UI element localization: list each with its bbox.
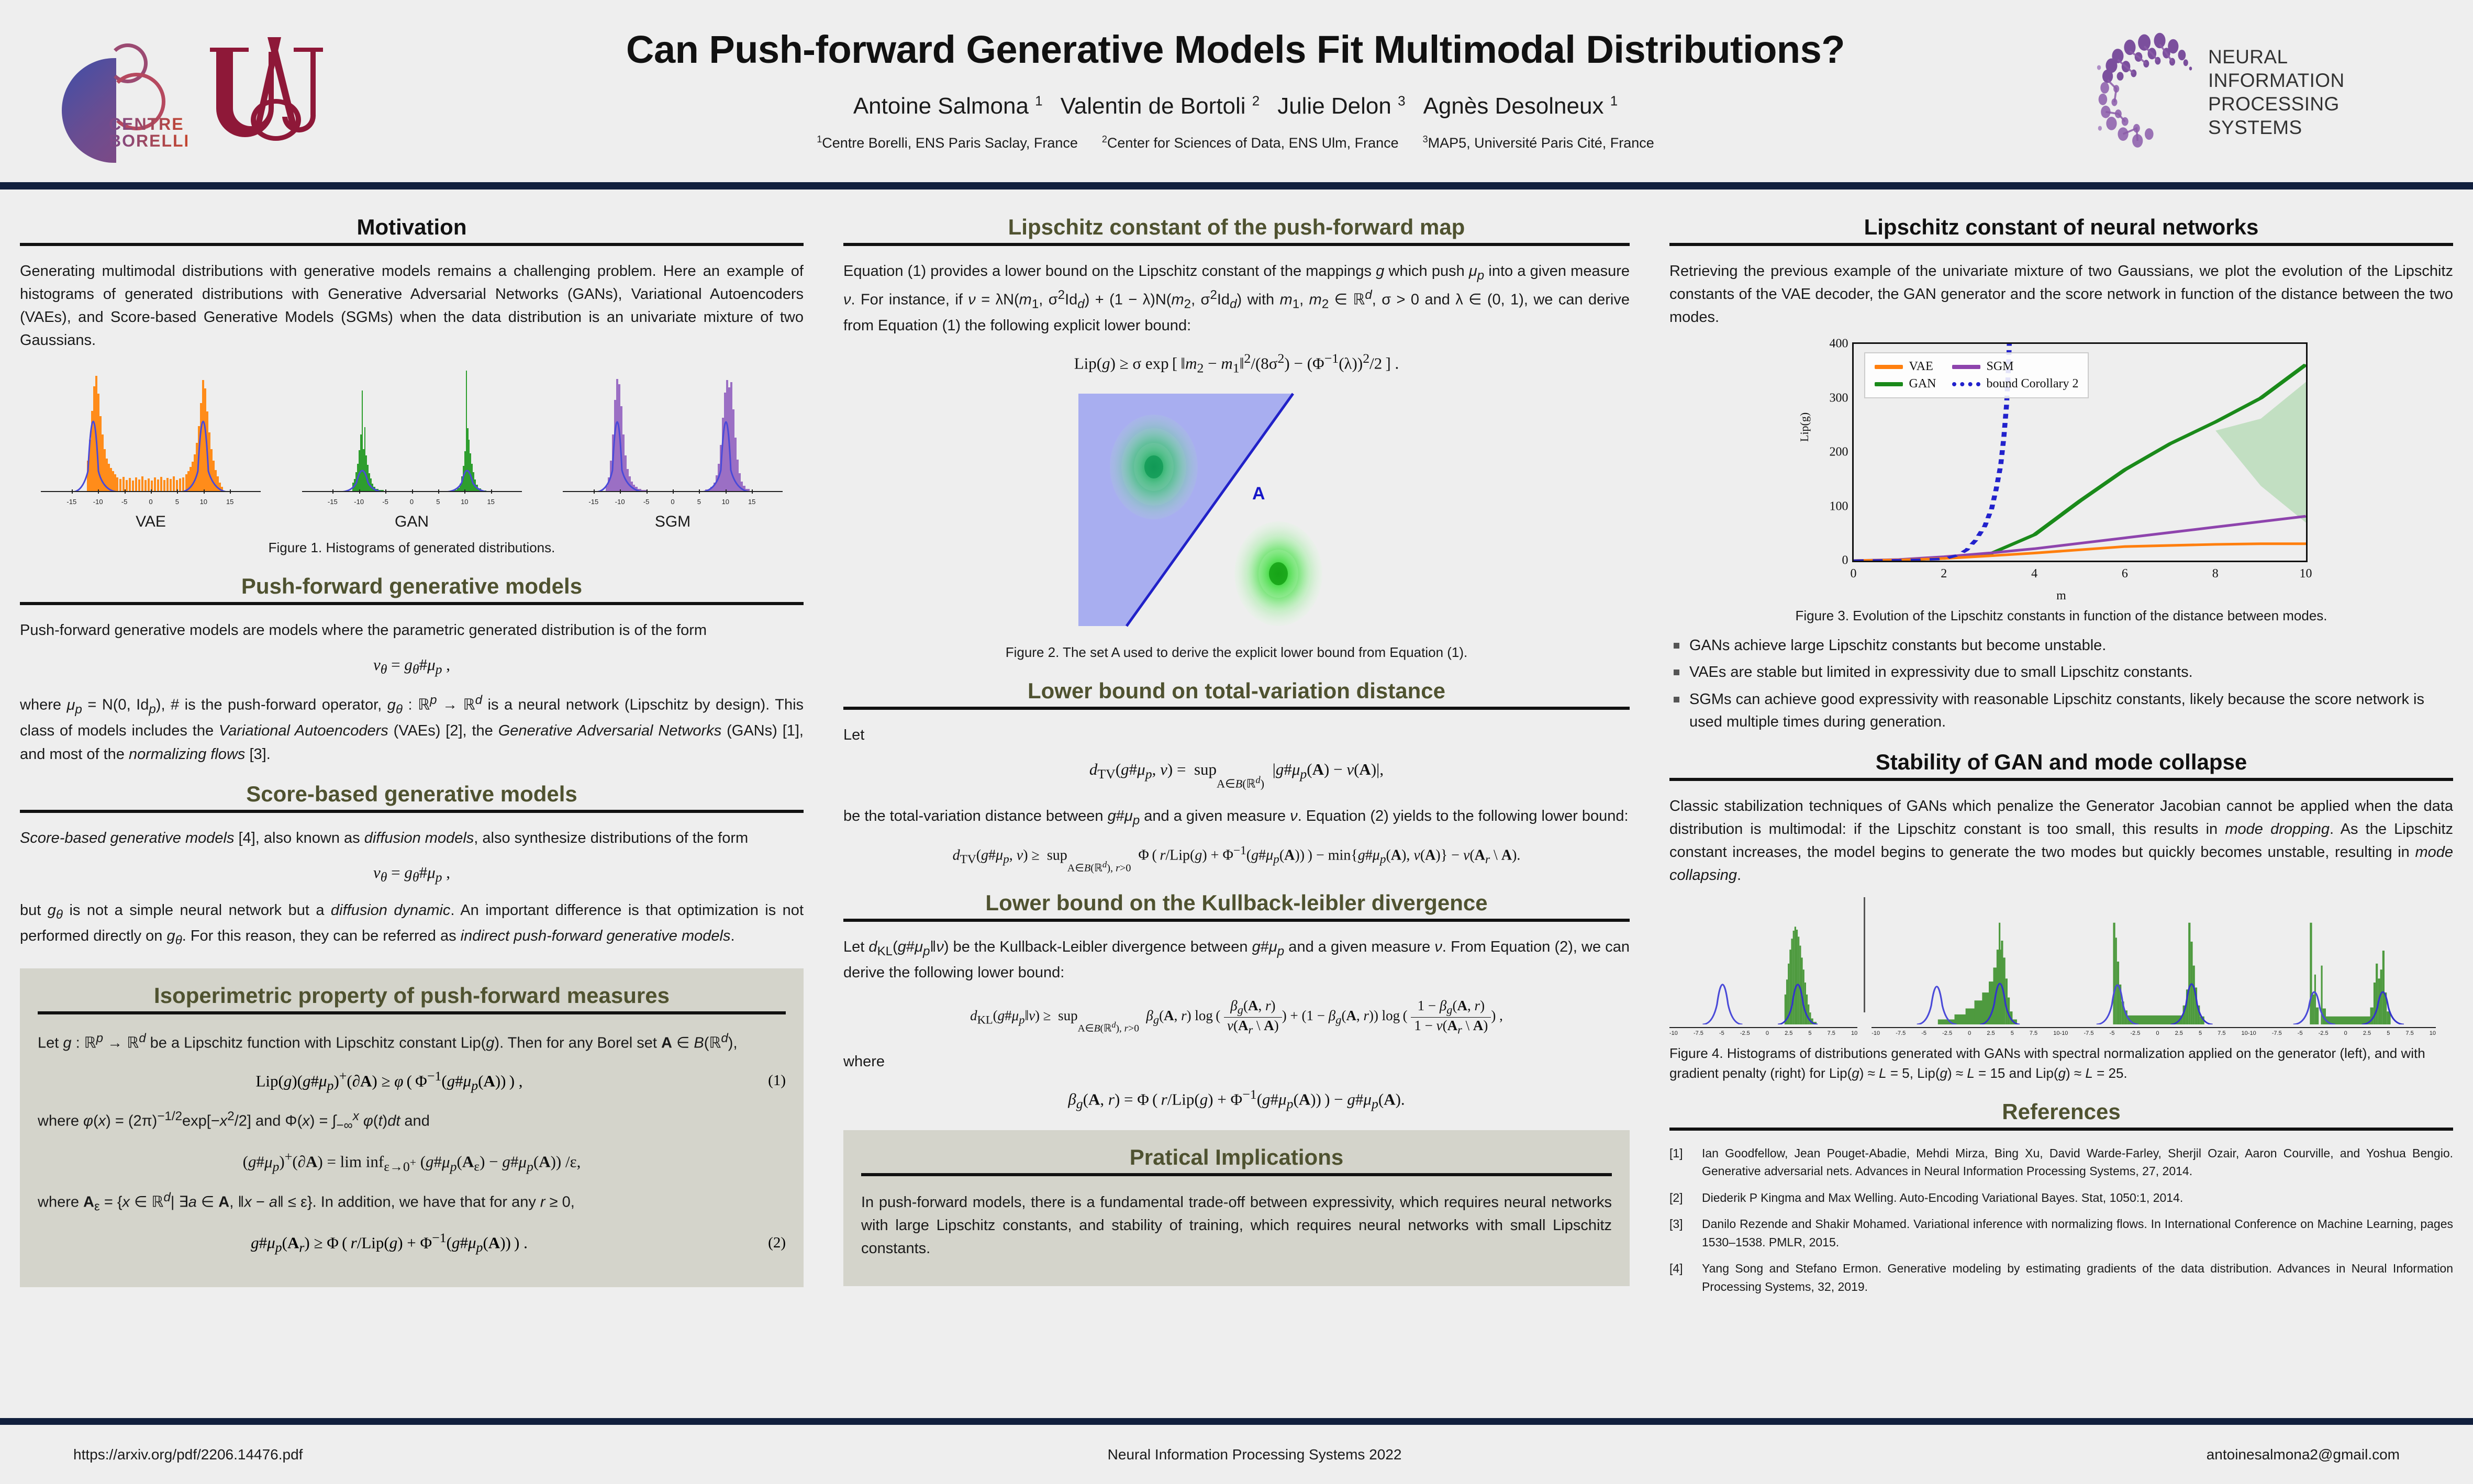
xtick: 5 xyxy=(2011,1030,2014,1036)
figure-3: Lip(g) m 0 100 200 300 400 0 2 4 6 8 10 xyxy=(1669,337,2453,599)
gan-histogram-icon xyxy=(302,361,522,492)
xtick: -10 xyxy=(1669,1030,1678,1036)
affiliation-list: 1Centre Borelli, ENS Paris Saclay, Franc… xyxy=(513,134,1958,151)
scorebased-paragraph-2: but gθ is not a simple neural network bu… xyxy=(20,899,804,951)
section-divider xyxy=(20,602,804,605)
figure-1-label-gan: GAN xyxy=(302,513,522,531)
section-divider xyxy=(20,810,804,813)
legend-swatch-bound xyxy=(1952,382,1980,386)
xtick: 10 xyxy=(2430,1030,2436,1036)
xtick: 10 xyxy=(2053,1030,2059,1036)
section-heading-scorebased: Score-based generative models xyxy=(20,782,804,807)
legend-item-sgm: SGM xyxy=(1952,360,2079,374)
figure-1-panel-gan: -15 -10 -5 0 5 10 15 GAN xyxy=(302,361,522,531)
neurips-mark-icon xyxy=(2096,27,2200,158)
section-divider xyxy=(843,707,1630,710)
xtick: 2.5 xyxy=(1987,1030,1995,1036)
list-item: GANs achieve large Lipschitz constants b… xyxy=(1669,634,2453,657)
xtick: -7.5 xyxy=(1896,1030,1906,1036)
pushforward-paragraph-1: Push-forward generative models are model… xyxy=(20,619,804,642)
borelli-disc-icon xyxy=(62,58,116,163)
legend-item-bound: bound Corollary 2 xyxy=(1952,377,2079,391)
figure-4-xlabels-3: -10 -7.5 -5 -2.5 0 2.5 5 7.5 10 xyxy=(2060,1030,2248,1036)
figure-3-ytick-100: 100 xyxy=(1830,499,1848,514)
legend-label-bound: bound Corollary 2 xyxy=(1987,377,2079,391)
legend-item-gan: GAN xyxy=(1875,377,1936,391)
figure-4-pane-4: -10 -7.5 -5 -2.5 0 2.5 5 7.5 10 xyxy=(2248,920,2436,1036)
poster-root: CENTRE BORELLI xyxy=(0,0,2473,1484)
xtick: -10 xyxy=(1872,1030,1880,1036)
upc-mark-icon xyxy=(200,28,326,153)
section-heading-lipschitz-nn: Lipschitz constant of neural networks xyxy=(1669,215,2453,240)
reference-marker: [2] xyxy=(1669,1189,1683,1207)
xtick: -10 xyxy=(2248,1030,2256,1036)
xtick: -2.5 xyxy=(1740,1030,1750,1036)
figure-3-ytick-200: 200 xyxy=(1830,445,1848,460)
practical-paragraph: In push-forward models, there is a funda… xyxy=(861,1191,1612,1260)
legend-item-vae: VAE xyxy=(1875,360,1936,374)
xtick: 5 xyxy=(2387,1030,2390,1036)
kullback-paragraph-1: Let dKL(g#μp‖ν) be the Kullback-Leibler … xyxy=(843,935,1630,985)
figure-1-panel-vae: -15 -10 -5 0 5 10 15 VAE xyxy=(41,361,261,531)
neurips-line-1: NEURAL INFORMATION xyxy=(2208,45,2421,92)
figure-1-label-sgm: SGM xyxy=(563,513,783,531)
xtick: -5 xyxy=(2298,1030,2303,1036)
figure-3-xtick-8: 8 xyxy=(2212,567,2219,581)
section-heading-motivation: Motivation xyxy=(20,215,804,240)
figure-4-axis-2 xyxy=(1872,1027,2059,1028)
stability-paragraph: Classic stabilization techniques of GANs… xyxy=(1669,795,2453,887)
xtick: 2.5 xyxy=(2175,1030,2183,1036)
figure-1-caption: Figure 1. Histograms of generated distri… xyxy=(20,538,804,558)
figure-4-xlabels-1: -10 -7.5 -5 -2.5 0 2.5 5 7.5 10 xyxy=(1669,1030,1857,1036)
xtick: -7.5 xyxy=(1694,1030,1703,1036)
figure-3-xtick-10: 10 xyxy=(2300,567,2312,581)
xtick: 7.5 xyxy=(1828,1030,1835,1036)
practical-implications-box: Pratical Implications In push-forward mo… xyxy=(843,1130,1630,1286)
figure-2-caption: Figure 2. The set A used to derive the e… xyxy=(843,643,1630,663)
xtick: -5 xyxy=(1719,1030,1724,1036)
footer-venue: Neural Information Processing Systems 20… xyxy=(1108,1446,1402,1463)
xtick: 0 xyxy=(1968,1030,1971,1036)
figure-2: A xyxy=(843,389,1630,635)
xtick: 5 xyxy=(2199,1030,2202,1036)
footer-email[interactable]: antoinesalmona2@gmail.com xyxy=(2207,1446,2400,1463)
set-a-diagram-icon xyxy=(1074,389,1399,635)
isoperimetric-paragraph-1: Let g : ℝp → ℝd be a Lipschitz function … xyxy=(38,1029,786,1055)
isoperimetric-equation-3-number: (2) xyxy=(741,1234,786,1252)
author-2: Valentin de Bortoli 2 xyxy=(1061,93,1260,119)
figure-4-hist-1-icon xyxy=(1669,920,1857,1024)
isoperimetric-paragraph-3: where Aε = {x ∈ ℝd| ∃a ∈ A, ‖x − a‖ ≤ ε}… xyxy=(38,1188,786,1217)
reference-text: Yang Song and Stefano Ermon. Generative … xyxy=(1702,1262,2453,1293)
figure-4-hist-3-icon xyxy=(2060,920,2248,1024)
total-variation-equation-1: dTV(g#μp, ν) = supA∈B(ℝd) |g#μp(A) − ν(A… xyxy=(843,760,1630,791)
figure-3-legend: VAE SGM GAN xyxy=(1864,352,2089,398)
legend-label-sgm: SGM xyxy=(1987,360,2014,374)
neurips-line-2: PROCESSING SYSTEMS xyxy=(2208,92,2421,139)
figure-3-xlabel: m xyxy=(1805,589,2318,603)
poster-body: Motivation Generating multimodal distrib… xyxy=(0,199,2473,1304)
section-divider xyxy=(38,1011,786,1014)
footer-url[interactable]: https://arxiv.org/pdf/2206.14476.pdf xyxy=(73,1446,303,1463)
reference-marker: [3] xyxy=(1669,1215,1683,1233)
institution-logos: CENTRE BORELLI xyxy=(62,20,334,161)
section-divider xyxy=(843,243,1630,246)
legend-label-vae: VAE xyxy=(1909,360,1933,374)
reference-text: Diederik P Kingma and Max Welling. Auto-… xyxy=(1702,1191,2183,1204)
figure-3-xtick-0: 0 xyxy=(1851,567,1857,581)
list-item: [4] Yang Song and Stefano Ermon. Generat… xyxy=(1669,1259,2453,1296)
reference-text: Ian Goodfellow, Jean Pouget-Abadie, Mehd… xyxy=(1702,1146,2453,1178)
lipschitz-pushforward-paragraph: Equation (1) provides a lower bound on t… xyxy=(843,260,1630,337)
author-1: Antoine Salmona 1 xyxy=(853,93,1043,119)
borelli-line-2: BORELLI xyxy=(109,132,187,149)
vae-histogram-icon xyxy=(41,361,261,492)
figure-4-hist-4-icon xyxy=(2248,920,2436,1024)
universite-paris-cite-logo xyxy=(200,28,326,153)
borelli-line-1: CENTRE xyxy=(109,116,187,132)
xtick: -2.5 xyxy=(1942,1030,1952,1036)
figure-2-set-label: A xyxy=(1252,484,1265,504)
isoperimetric-equation-1: Lip(g)(g#μp)+(∂A) ≥ φ ( Φ−1(g#μp(A)) ) , xyxy=(38,1068,741,1094)
page-title: Can Push-forward Generative Models Fit M… xyxy=(513,27,1958,72)
legend-swatch-vae xyxy=(1875,365,1903,369)
legend-swatch-sgm xyxy=(1952,365,1980,369)
column-left: Motivation Generating multimodal distrib… xyxy=(0,199,823,1304)
reference-marker: [4] xyxy=(1669,1259,1683,1278)
xtick: 0 xyxy=(2156,1030,2159,1036)
affiliation-1: 1Centre Borelli, ENS Paris Saclay, Franc… xyxy=(817,135,1078,151)
figure-4-axis-1 xyxy=(1669,1027,1857,1028)
xtick: 0 xyxy=(1766,1030,1769,1036)
header-divider xyxy=(0,182,2473,189)
list-item: VAEs are stable but limited in expressiv… xyxy=(1669,661,2453,684)
xtick: 7.5 xyxy=(2405,1030,2413,1036)
figure-3-ytick-400: 400 xyxy=(1830,337,1848,351)
centre-borelli-logo: CENTRE BORELLI xyxy=(62,23,185,159)
figure-4-hist-2-icon xyxy=(1872,920,2059,1024)
scorebased-paragraph-1: Score-based generative models [4], also … xyxy=(20,827,804,850)
legend-swatch-gan xyxy=(1875,382,1903,386)
xtick: -2.5 xyxy=(2319,1030,2329,1036)
list-item: [1] Ian Goodfellow, Jean Pouget-Abadie, … xyxy=(1669,1144,2453,1180)
figure-4-axis-3 xyxy=(2060,1027,2248,1028)
figure-3-xtick-6: 6 xyxy=(2122,567,2128,581)
section-divider xyxy=(20,243,804,246)
total-variation-lead: Let xyxy=(843,723,1630,746)
figure-4-pane-3: -10 -7.5 -5 -2.5 0 2.5 5 7.5 10 xyxy=(2060,920,2248,1036)
isoperimetric-equation-3: g#μp(Ar) ≥ Φ ( r/Lip(g) + Φ−1(g#μp(A)) )… xyxy=(38,1230,741,1256)
affiliation-3: 3MAP5, Université Paris Cité, France xyxy=(1423,135,1654,151)
isoperimetric-equation-1-number: (1) xyxy=(741,1072,786,1089)
figure-1-label-vae: VAE xyxy=(41,513,261,531)
figure-4-xlabels-4: -10 -7.5 -5 -2.5 0 2.5 5 7.5 10 xyxy=(2248,1030,2436,1036)
sgm-histogram-icon xyxy=(563,361,783,492)
figure-4-pane-1: -10 -7.5 -5 -2.5 0 2.5 5 7.5 10 xyxy=(1669,920,1857,1036)
poster-header: CENTRE BORELLI xyxy=(0,0,2473,182)
scorebased-equation: νθ = gθ#μp , xyxy=(20,863,804,885)
xtick: -7.5 xyxy=(2084,1030,2094,1036)
kullback-equation-2: βg(A, r) = Φ ( r/Lip(g) + Φ−1(g#μp(A)) )… xyxy=(843,1087,1630,1112)
motivation-paragraph: Generating multimodal distributions with… xyxy=(20,260,804,352)
xtick: -7.5 xyxy=(2272,1030,2282,1036)
xtick: 7.5 xyxy=(2218,1030,2225,1036)
section-heading-references: References xyxy=(1669,1099,2453,1124)
figure-4-xlabels-2: -10 -7.5 -5 -2.5 0 2.5 5 7.5 10 xyxy=(1872,1030,2059,1036)
figure-1: -15 -10 -5 0 5 10 15 VAE xyxy=(20,361,804,558)
section-heading-isoperimetric: Isoperimetric property of push-forward m… xyxy=(38,983,786,1008)
figure-3-xtick-4: 4 xyxy=(2031,567,2037,581)
section-heading-pushforward: Push-forward generative models xyxy=(20,574,804,599)
reference-list: [1] Ian Goodfellow, Jean Pouget-Abadie, … xyxy=(1669,1144,2453,1296)
figure-3-plot-area: 0 100 200 300 400 0 2 4 6 8 10 xyxy=(1852,342,2308,562)
xtick: -5 xyxy=(1921,1030,1926,1036)
column-middle: Lipschitz constant of the push-forward m… xyxy=(823,199,1650,1304)
lipschitz-nn-paragraph: Retrieving the previous example of the u… xyxy=(1669,260,2453,329)
author-4: Agnès Desolneux 1 xyxy=(1423,93,1618,119)
author-list: Antoine Salmona 1Valentin de Bortoli 2Ju… xyxy=(513,93,1958,119)
isoperimetric-equation-2: (g#μp)+(∂A) = lim infε→0+ (g#μp(Aε) − g#… xyxy=(38,1149,786,1175)
figure-3-ytick-300: 300 xyxy=(1830,391,1848,405)
list-item: SGMs can achieve good expressivity with … xyxy=(1669,688,2453,734)
section-divider xyxy=(1669,1128,2453,1131)
figure-1-panel-sgm: -15 -10 -5 0 5 10 15 SGM xyxy=(563,361,783,531)
lipschitz-pushforward-equation: Lip(g) ≥ σ exp [ ‖m2 − m1‖2/(8σ2) − (Φ−1… xyxy=(843,351,1630,376)
section-divider xyxy=(843,919,1630,922)
kullback-equation-1: dKL(g#μp‖ν) ≥ supA∈B(ℝd), r>0 βg(A, r) l… xyxy=(843,998,1630,1036)
figure-4-caption: Figure 4. Histograms of distributions ge… xyxy=(1669,1044,2453,1083)
section-divider xyxy=(1669,243,2453,246)
figure-3-ytick-0: 0 xyxy=(1842,554,1848,568)
total-variation-paragraph: be the total-variation distance between … xyxy=(843,805,1630,831)
section-divider xyxy=(861,1173,1612,1176)
borelli-wordmark: CENTRE BORELLI xyxy=(109,116,187,149)
neurips-logo: NEURAL INFORMATION PROCESSING SYSTEMS xyxy=(2096,24,2421,160)
neurips-wordmark: NEURAL INFORMATION PROCESSING SYSTEMS xyxy=(2208,45,2421,140)
section-heading-kullback: Lower bound on the Kullback-leibler dive… xyxy=(843,890,1630,916)
figure-4-axis-4 xyxy=(2248,1027,2436,1028)
column-right: Lipschitz constant of neural networks Re… xyxy=(1650,199,2473,1304)
section-divider xyxy=(1669,778,2453,781)
xtick: -5 xyxy=(2110,1030,2115,1036)
author-3: Julie Delon 3 xyxy=(1277,93,1405,119)
pushforward-equation: νθ = gθ#μp , xyxy=(20,655,804,677)
xtick: 5 xyxy=(1808,1030,1811,1036)
xtick: 7.5 xyxy=(2030,1030,2037,1036)
figure-3-xtick-2: 2 xyxy=(1941,567,1947,581)
footer-divider xyxy=(0,1418,2473,1425)
lipschitz-nn-bullets: GANs achieve large Lipschitz constants b… xyxy=(1669,634,2453,734)
section-heading-total-variation: Lower bound on total-variation distance xyxy=(843,678,1630,704)
pushforward-paragraph-2: where μp = N(0, Idp), # is the push-forw… xyxy=(20,691,804,765)
isoperimetric-paragraph-2: where φ(x) = (2π)−1/2exp[−x2/2] and Φ(x)… xyxy=(38,1107,786,1135)
reference-marker: [1] xyxy=(1669,1144,1683,1163)
kullback-paragraph-2: where xyxy=(843,1050,1630,1073)
xtick: 10 xyxy=(2242,1030,2248,1036)
isoperimetric-box: Isoperimetric property of push-forward m… xyxy=(20,968,804,1287)
total-variation-equation-2: dTV(g#μp, ν) ≥ supA∈B(ℝd), r>0 Φ ( r/Lip… xyxy=(843,844,1630,875)
figure-4-divider xyxy=(1864,897,1865,1012)
list-item: [3] Danilo Rezende and Shakir Mohamed. V… xyxy=(1669,1215,2453,1251)
figure-3-ylabel: Lip(g) xyxy=(1798,412,1811,442)
isoperimetric-equation-3-row: g#μp(Ar) ≥ Φ ( r/Lip(g) + Φ−1(g#μp(A)) )… xyxy=(38,1230,786,1256)
figure-3-chart: Lip(g) m 0 100 200 300 400 0 2 4 6 8 10 xyxy=(1805,337,2318,599)
figure-1-panels: -15 -10 -5 0 5 10 15 VAE xyxy=(20,361,804,531)
figure-4-pane-2: -10 -7.5 -5 -2.5 0 2.5 5 7.5 10 xyxy=(1872,920,2059,1036)
section-heading-practical: Pratical Implications xyxy=(861,1145,1612,1170)
xtick: 2.5 xyxy=(2363,1030,2371,1036)
reference-text: Danilo Rezende and Shakir Mohamed. Varia… xyxy=(1702,1217,2453,1249)
xtick: -2.5 xyxy=(2130,1030,2140,1036)
xtick: -10 xyxy=(2060,1030,2068,1036)
xtick: 2.5 xyxy=(1785,1030,1792,1036)
figure-4: -10 -7.5 -5 -2.5 0 2.5 5 7.5 10 xyxy=(1669,897,2453,1036)
figure-2-plot: A xyxy=(1074,389,1399,635)
list-item: [2] Diederik P Kingma and Max Welling. A… xyxy=(1669,1189,2453,1207)
section-heading-stability: Stability of GAN and mode collapse xyxy=(1669,750,2453,775)
figure-3-caption: Figure 3. Evolution of the Lipschitz con… xyxy=(1669,606,2453,626)
xtick: 0 xyxy=(2344,1030,2347,1036)
affiliation-2: 2Center for Sciences of Data, ENS Ulm, F… xyxy=(1102,135,1399,151)
isoperimetric-equation-1-row: Lip(g)(g#μp)+(∂A) ≥ φ ( Φ−1(g#μp(A)) ) ,… xyxy=(38,1068,786,1094)
title-block: Can Push-forward Generative Models Fit M… xyxy=(513,27,1958,151)
section-heading-lipschitz-pushforward: Lipschitz constant of the push-forward m… xyxy=(843,215,1630,240)
legend-label-gan: GAN xyxy=(1909,377,1936,391)
xtick: 10 xyxy=(1851,1030,1857,1036)
poster-footer: https://arxiv.org/pdf/2206.14476.pdf Neu… xyxy=(0,1425,2473,1484)
